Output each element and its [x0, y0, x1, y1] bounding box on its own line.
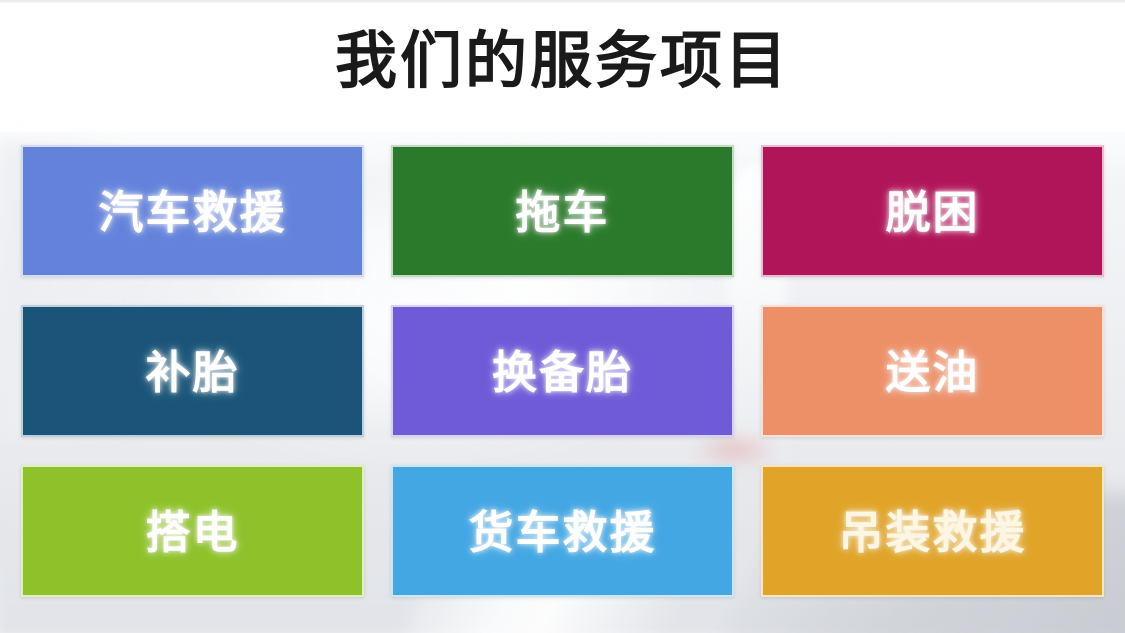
page-title: 我们的服务项目 — [335, 31, 790, 97]
service-tile-label: 换备胎 — [492, 350, 633, 395]
service-tile-spare-tire-change[interactable]: 换备胎 — [391, 305, 734, 437]
service-tile-extrication[interactable]: 脱困 — [761, 145, 1104, 277]
service-tile-label: 货车救援 — [468, 510, 656, 555]
service-tile-label: 搭电 — [145, 510, 239, 555]
service-tile-label: 送油 — [885, 350, 979, 395]
service-tile-hoisting-rescue[interactable]: 吊装救援 — [761, 465, 1104, 597]
service-tile-towing[interactable]: 拖车 — [391, 145, 734, 277]
service-tile-label: 吊装救援 — [838, 510, 1026, 555]
service-tile-truck-rescue[interactable]: 货车救援 — [391, 465, 734, 597]
service-tile-jump-start[interactable]: 搭电 — [21, 465, 364, 597]
title-bar: 我们的服务项目 — [0, 0, 1125, 128]
service-tile-car-rescue[interactable]: 汽车救援 — [21, 145, 364, 277]
service-tile-tire-repair[interactable]: 补胎 — [21, 305, 364, 437]
service-grid: 汽车救援 拖车 脱困 补胎 换备胎 送油 搭电 货车救援 吊装救援 — [21, 145, 1103, 597]
service-tile-fuel-delivery[interactable]: 送油 — [761, 305, 1104, 437]
service-tile-label: 汽车救援 — [98, 190, 286, 235]
service-tile-label: 拖车 — [515, 190, 609, 235]
service-tile-label: 脱困 — [885, 190, 979, 235]
service-tile-label: 补胎 — [145, 350, 239, 395]
service-poster: 我们的服务项目 汽车救援 拖车 脱困 补胎 换备胎 送油 搭电 货车救援 吊装救… — [0, 0, 1125, 633]
